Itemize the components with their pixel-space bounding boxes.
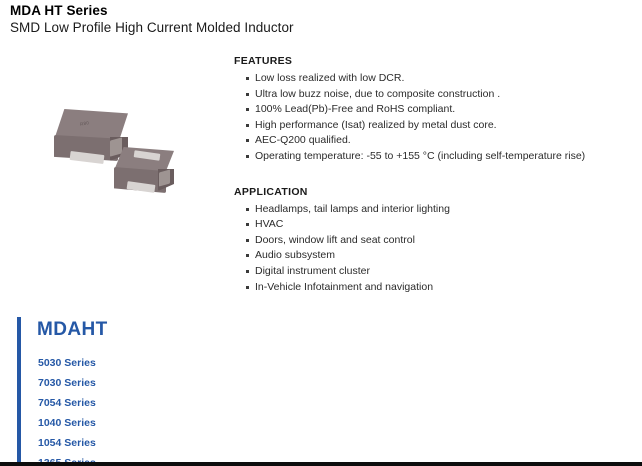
series-link-list: 5030 Series 7030 Series 7054 Series 1040…	[38, 353, 198, 466]
inductor-component-small	[114, 147, 178, 203]
page-title: MDA HT Series	[10, 3, 510, 19]
series-link-1040[interactable]: 1040 Series	[38, 413, 198, 433]
list-item: HVAC	[246, 217, 634, 233]
accent-bar	[17, 317, 21, 466]
list-item: Doors, window lift and seat control	[246, 233, 634, 249]
list-item: Low loss realized with low DCR.	[246, 71, 634, 87]
list-item: In-Vehicle Infotainment and navigation	[246, 280, 634, 296]
page-subtitle: SMD Low Profile High Current Molded Indu…	[10, 19, 510, 36]
list-item: AEC-Q200 qualified.	[246, 133, 634, 149]
series-link-7030[interactable]: 7030 Series	[38, 373, 198, 393]
series-link-5030[interactable]: 5030 Series	[38, 353, 198, 373]
bottom-edge-strip	[0, 462, 642, 466]
list-item: Operating temperature: -55 to +155 °C (i…	[246, 149, 634, 165]
features-list: Low loss realized with low DCR. Ultra lo…	[234, 71, 634, 165]
application-list: Headlamps, tail lamps and interior light…	[234, 202, 634, 296]
list-item: High performance (Isat) realized by meta…	[246, 118, 634, 134]
content-column: FEATURES Low loss realized with low DCR.…	[234, 55, 634, 295]
series-link-1054[interactable]: 1054 Series	[38, 433, 198, 453]
list-item: 100% Lead(Pb)-Free and RoHS compliant.	[246, 102, 634, 118]
list-item: Ultra low buzz noise, due to composite c…	[246, 87, 634, 103]
application-heading: APPLICATION	[234, 186, 634, 198]
list-item: Digital instrument cluster	[246, 264, 634, 280]
list-item: Headlamps, tail lamps and interior light…	[246, 202, 634, 218]
datasheet-page: MDA HT Series SMD Low Profile High Curre…	[0, 0, 642, 466]
mdaht-heading: MDAHT	[37, 319, 108, 341]
mdaht-panel: MDAHT 5030 Series 7030 Series 7054 Serie…	[0, 317, 300, 466]
application-section: APPLICATION Headlamps, tail lamps and in…	[234, 186, 634, 296]
features-heading: FEATURES	[234, 55, 634, 67]
page-header: MDA HT Series SMD Low Profile High Curre…	[10, 3, 510, 36]
list-item: Audio subsystem	[246, 248, 634, 264]
product-image: R80	[48, 103, 188, 205]
features-section: FEATURES Low loss realized with low DCR.…	[234, 55, 634, 165]
series-link-7054[interactable]: 7054 Series	[38, 393, 198, 413]
